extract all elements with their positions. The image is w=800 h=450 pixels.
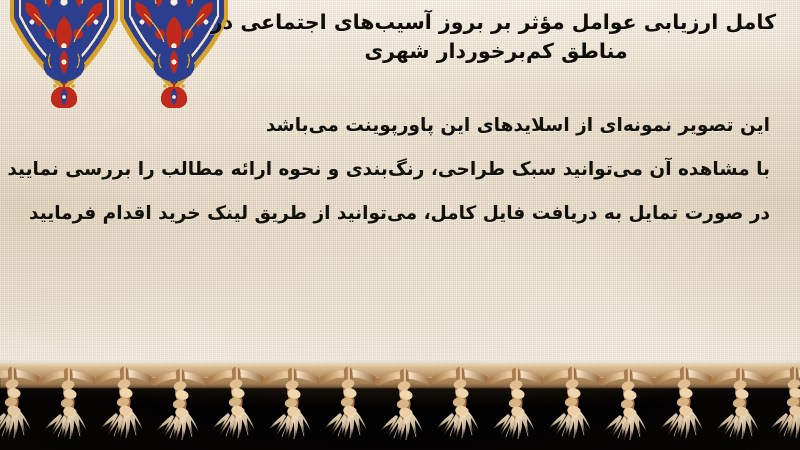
slide-title-line-1: کامل ارزیابی عوامل مؤثر بر بروز آسیب‌های… [216,8,776,37]
slide-body-line-2: با مشاهده آن می‌توانید سبک طراحی، رنگ‌بن… [30,148,770,192]
slide-title-line-2: مناطق کم‌برخوردار شهری [216,37,776,66]
slide-body-line-3: در صورت تمایل به دریافت فایل کامل، می‌تو… [30,192,770,236]
carpet-selvedge-edge [0,362,800,388]
slide-body: این تصویر نمونه‌ای از اسلایدهای این پاور… [30,104,770,236]
slide-body-line-1: این تصویر نمونه‌ای از اسلایدهای این پاور… [30,104,770,148]
slide-canvas: کامل ارزیابی عوامل مؤثر بر بروز آسیب‌های… [0,0,800,450]
black-background-band [0,378,800,450]
slide-title: کامل ارزیابی عوامل مؤثر بر بروز آسیب‌های… [216,8,776,66]
